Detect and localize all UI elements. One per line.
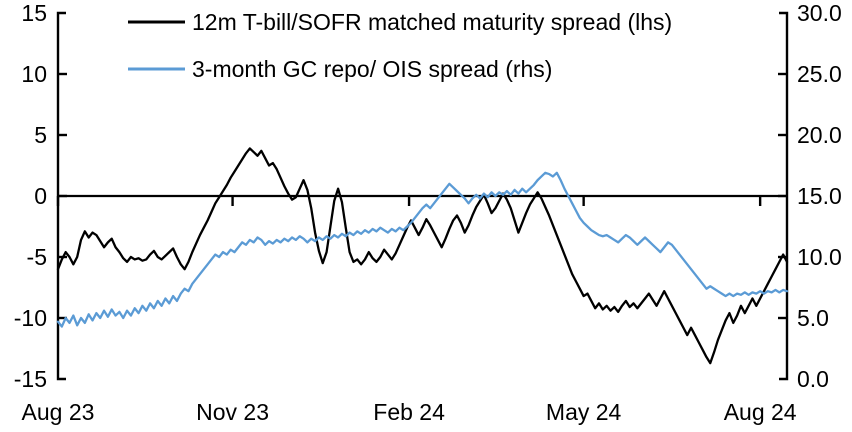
x-axis-ticks [58,196,760,206]
left-tick-label-0: 15 [21,0,47,26]
series-path-0 [58,148,787,363]
chart-container: 151050-5-10-15 30.025.020.015.010.05.00.… [0,0,852,432]
right-tick-label-3: 15.0 [797,183,842,209]
left-tick-label-1: 10 [21,61,47,87]
left-tick-label-2: 5 [34,122,47,148]
x-tick-label-3: May 24 [546,399,622,425]
left-tick-label-5: -10 [14,305,47,331]
right-tick-label-4: 10.0 [797,244,842,270]
series-layer [58,148,787,363]
left-tick-label-6: -15 [14,366,47,392]
right-tick-label-0: 30.0 [797,0,842,26]
x-tick-label-0: Aug 23 [22,399,95,425]
legend-label-0: 12m T-bill/SOFR matched maturity spread … [192,9,672,35]
x-tick-label-1: Nov 23 [196,399,269,425]
chart-plot-svg: 151050-5-10-15 30.025.020.015.010.05.00.… [0,0,852,432]
left-axis-labels: 151050-5-10-15 [14,0,47,392]
right-tick-label-6: 0.0 [797,366,829,392]
left-tick-label-4: -5 [27,244,47,270]
right-tick-label-1: 25.0 [797,61,842,87]
right-tick-label-5: 5.0 [797,305,829,331]
chart-legend: 12m T-bill/SOFR matched maturity spread … [128,9,672,82]
x-tick-label-4: Aug 24 [724,399,797,425]
x-tick-label-2: Feb 24 [373,399,445,425]
legend-label-1: 3-month GC repo/ OIS spread (rhs) [192,56,552,82]
left-tick-label-3: 0 [34,183,47,209]
x-axis-labels: Aug 23Nov 23Feb 24May 24Aug 24 [22,399,797,425]
right-tick-label-2: 20.0 [797,122,842,148]
right-axis-labels: 30.025.020.015.010.05.00.0 [797,0,842,392]
